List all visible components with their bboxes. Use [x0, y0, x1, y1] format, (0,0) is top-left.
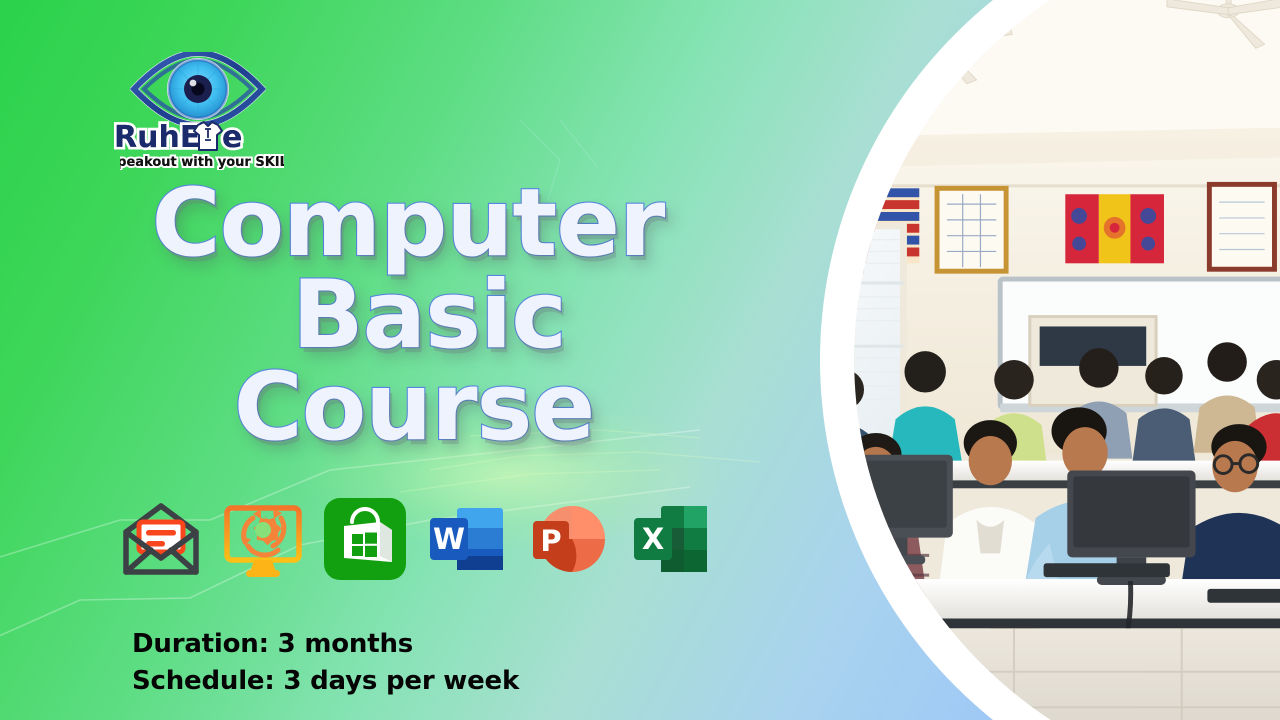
course-schedule: Schedule: 3 days per week	[132, 663, 519, 700]
brand-logo: RuhE RuhE e e Speakout with your SKILL S…	[112, 52, 284, 172]
course-promo-banner: RuhE RuhE e e Speakout with your SKILL S…	[0, 0, 1280, 720]
title-line-2: Basic	[158, 270, 700, 362]
microsoft-powerpoint-icon: P	[526, 496, 612, 582]
title-line-3: Course	[128, 362, 700, 454]
svg-text:P: P	[540, 524, 561, 558]
eye-icon	[130, 52, 266, 126]
brand-tagline: Speakout with your SKILL Speakout with y…	[120, 152, 284, 170]
microsoft-excel-icon: X	[628, 496, 714, 582]
svg-text:RuhE: RuhE	[114, 120, 200, 154]
course-details: Duration: 3 months Schedule: 3 days per …	[132, 626, 519, 701]
email-icon	[118, 496, 204, 582]
classroom-photo-panel	[700, 0, 1280, 720]
software-icon-strip: W P X	[118, 496, 714, 582]
svg-text:e: e	[222, 120, 242, 154]
svg-text:X: X	[642, 522, 664, 556]
brand-wordmark: RuhE RuhE e e	[112, 120, 284, 154]
computer-settings-icon	[220, 496, 306, 582]
microsoft-word-icon: W	[424, 496, 510, 582]
svg-text:W: W	[433, 522, 465, 556]
microsoft-store-icon	[322, 496, 408, 582]
title-line-1: Computer	[116, 178, 700, 270]
course-duration: Duration: 3 months	[132, 626, 519, 663]
classroom-photo	[718, 0, 1280, 720]
tshirt-icon	[194, 122, 222, 150]
svg-text:Speakout with your SKILL: Speakout with your SKILL	[120, 155, 284, 170]
page-title: Computer Basic Course	[0, 178, 700, 454]
